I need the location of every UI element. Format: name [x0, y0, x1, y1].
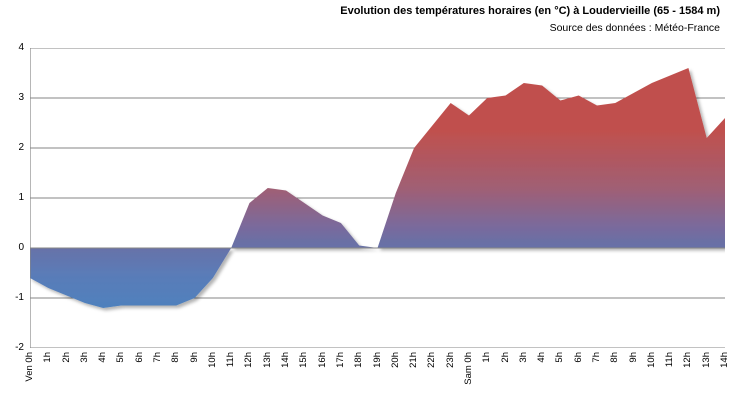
- x-tick-label: 19h: [373, 352, 383, 368]
- x-tick-label: 12h: [683, 352, 693, 368]
- y-tick-label: -1: [15, 293, 24, 303]
- x-tick-label: 9h: [629, 352, 639, 363]
- y-tick-label: 0: [18, 243, 24, 253]
- y-axis: 43210-1-2: [0, 48, 24, 348]
- temperature-area-path: [30, 68, 725, 308]
- x-tick-label: 4h: [537, 352, 547, 363]
- x-tick-label: 5h: [555, 352, 565, 363]
- x-axis: Ven 0h1h2h3h4h5h6h7h8h9h10h11h12h13h14h1…: [30, 352, 725, 408]
- x-tick-label: 9h: [190, 352, 200, 363]
- page-title: Evolution des températures horaires (en …: [0, 4, 720, 19]
- x-tick-label: 13h: [702, 352, 712, 368]
- x-tick-label: 21h: [409, 352, 419, 368]
- x-tick-label: 2h: [62, 352, 72, 363]
- x-tick-label: 14h: [281, 352, 291, 368]
- chart-title-block: Evolution des températures horaires (en …: [0, 4, 720, 36]
- temperature-area-chart: Evolution des températures horaires (en …: [0, 0, 730, 410]
- x-tick-label: Sam 0h: [464, 352, 474, 385]
- x-tick-label: 7h: [592, 352, 602, 363]
- y-tick-label: 3: [18, 93, 24, 103]
- x-tick-label: 6h: [574, 352, 584, 363]
- x-tick-label: 15h: [299, 352, 309, 368]
- x-tick-label: 11h: [665, 352, 675, 367]
- x-tick-label: 18h: [354, 352, 364, 368]
- x-tick-label: 8h: [171, 352, 181, 363]
- x-tick-label: 5h: [116, 352, 126, 363]
- x-tick-label: 4h: [98, 352, 108, 363]
- x-tick-label: 12h: [244, 352, 254, 368]
- x-tick-label: 22h: [427, 352, 437, 368]
- x-tick-label: 14h: [720, 352, 730, 368]
- chart-source-subtitle: Source des données : Météo-France: [0, 21, 720, 36]
- y-tick-label: -2: [15, 343, 24, 353]
- x-tick-label: 13h: [263, 352, 273, 368]
- x-tick-label: 11h: [226, 352, 236, 367]
- x-tick-label: 7h: [153, 352, 163, 363]
- x-tick-label: 23h: [446, 352, 456, 368]
- x-tick-label: 20h: [391, 352, 401, 368]
- x-tick-label: 6h: [135, 352, 145, 363]
- x-tick-label: 16h: [318, 352, 328, 368]
- y-tick-label: 2: [18, 143, 24, 153]
- chart-canvas: [30, 48, 725, 348]
- x-tick-label: 17h: [336, 352, 346, 368]
- x-tick-label: 3h: [519, 352, 529, 363]
- x-tick-label: Ven 0h: [25, 352, 35, 382]
- x-tick-label: 10h: [208, 352, 218, 368]
- y-tick-label: 1: [18, 193, 24, 203]
- series-area-temperature: [30, 68, 725, 308]
- x-tick-label: 1h: [43, 352, 53, 363]
- x-tick-label: 1h: [482, 352, 492, 363]
- plot-area: [30, 48, 725, 348]
- x-tick-label: 8h: [610, 352, 620, 363]
- y-tick-label: 4: [18, 43, 24, 53]
- x-tick-label: 2h: [501, 352, 511, 363]
- x-tick-label: 10h: [647, 352, 657, 368]
- x-tick-label: 3h: [80, 352, 90, 363]
